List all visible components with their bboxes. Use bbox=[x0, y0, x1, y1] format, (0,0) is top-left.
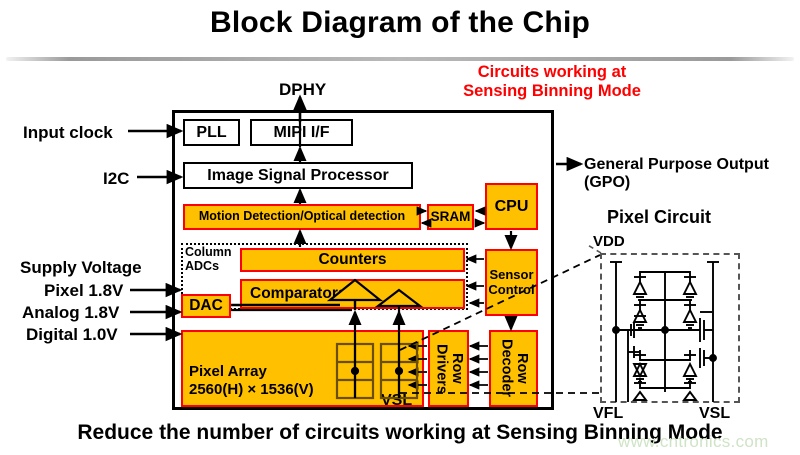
input-clock-label: Input clock bbox=[23, 123, 113, 142]
page-title: Block Diagram of the Chip bbox=[0, 6, 800, 40]
block-mipi-if[interactable]: MIPI I/F bbox=[250, 119, 353, 146]
title-divider bbox=[6, 57, 794, 61]
dphy-label: DPHY bbox=[279, 80, 326, 99]
digital-supply-label: Digital 1.0V bbox=[26, 325, 118, 344]
block-row-drivers[interactable]: Row Drivers bbox=[428, 330, 469, 407]
block-image-signal-processor[interactable]: Image Signal Processor bbox=[183, 162, 413, 189]
pixel-circuit-title: Pixel Circuit bbox=[607, 207, 711, 227]
block-counters[interactable]: Counters bbox=[240, 248, 465, 272]
watermark: www.cntronics.com bbox=[618, 432, 769, 452]
pixel-supply-label: Pixel 1.8V bbox=[44, 281, 123, 300]
analog-supply-label: Analog 1.8V bbox=[22, 303, 119, 322]
block-dac[interactable]: DAC bbox=[181, 294, 231, 318]
slide-root: Block Diagram of the Chip Circuits worki… bbox=[0, 0, 800, 455]
block-sram[interactable]: SRAM bbox=[427, 204, 474, 230]
block-comparators[interactable]: Comparators bbox=[240, 279, 465, 309]
pixel-array-label: Pixel Array 2560(H) × 1536(V) bbox=[189, 363, 314, 398]
sensing-binning-mode-note: Circuits working at Sensing Binning Mode bbox=[424, 63, 680, 101]
gpo-label: General Purpose Output (GPO) bbox=[584, 156, 769, 192]
pixel-circuit-box bbox=[600, 253, 740, 403]
block-row-decoder[interactable]: Row Decoder bbox=[489, 330, 538, 407]
block-cpu[interactable]: CPU bbox=[485, 183, 538, 230]
vdd-label: VDD bbox=[593, 234, 625, 251]
supply-voltage-label: Supply Voltage bbox=[20, 258, 142, 277]
block-sensor-control[interactable]: Sensor Control bbox=[485, 249, 538, 316]
block-pll[interactable]: PLL bbox=[183, 119, 240, 146]
i2c-label: I2C bbox=[103, 169, 129, 188]
column-adcs-label: Column ADCs bbox=[185, 246, 237, 274]
block-motion-detection[interactable]: Motion Detection/Optical detection bbox=[183, 204, 421, 230]
vsl-array-label: VSL bbox=[381, 392, 412, 410]
